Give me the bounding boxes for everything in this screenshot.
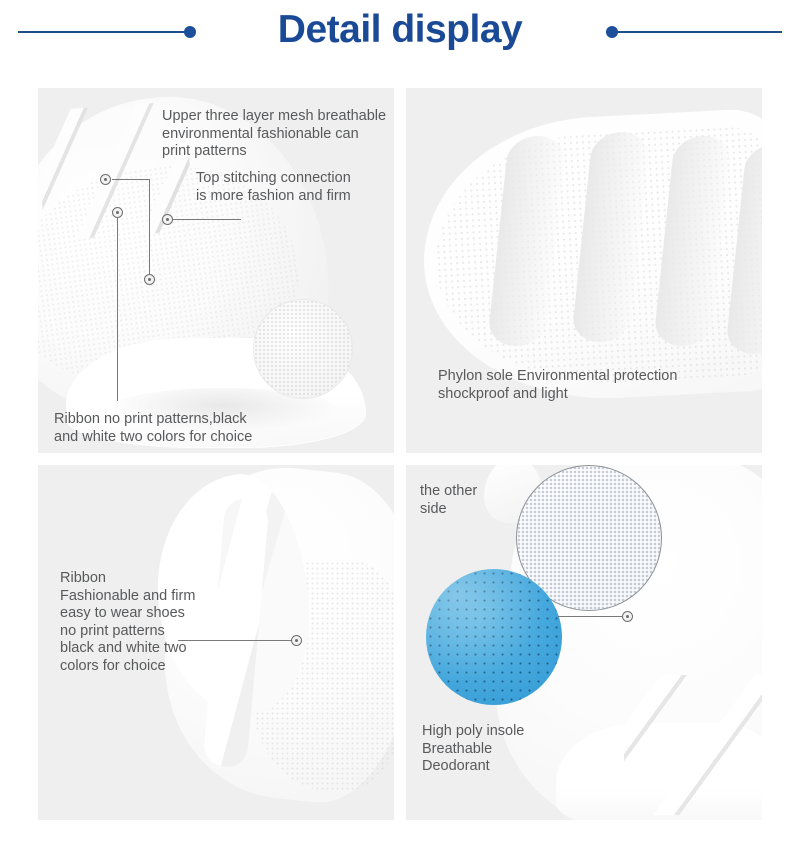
tread-chevron-1 <box>487 136 567 346</box>
note-heel-ribbon: Ribbon Fashionable and firm easy to wear… <box>60 570 235 675</box>
callout-marker-upper-2[interactable] <box>144 274 155 285</box>
ribbon-heel-panel: Ribbon Fashionable and firm easy to wear… <box>38 465 394 820</box>
stitching-zoom-circle <box>254 300 352 398</box>
callout-marker-ribbon[interactable] <box>112 207 123 218</box>
leader-line-stitching <box>173 219 241 220</box>
page-title: Detail display <box>0 8 800 52</box>
heel-mesh-texture <box>250 561 394 791</box>
note-high-poly-insole: High poly insole Breathable Deodorant <box>422 723 612 776</box>
leader-line-upper-b <box>149 179 150 279</box>
phylon-sole-panel: Phylon sole Environmental protection sho… <box>406 88 762 453</box>
tread-chevron-2 <box>571 132 651 342</box>
right-decorative-rule <box>616 31 782 33</box>
note-top-stitching: Top stitching connection is more fashion… <box>196 170 391 205</box>
callout-marker-stitching[interactable] <box>162 214 173 225</box>
shoe-laces-image <box>624 675 762 815</box>
detail-display-page: Detail display Upper three layer mesh br <box>0 0 800 853</box>
callout-marker-heel-ribbon[interactable] <box>291 635 302 646</box>
tread-chevron-3 <box>653 136 733 346</box>
leader-line-upper-a <box>112 179 150 180</box>
detail-panel-grid: Upper three layer mesh breathable enviro… <box>38 88 762 820</box>
leader-line-ribbon <box>117 213 118 401</box>
leader-line-insole-main <box>558 616 626 617</box>
callout-marker-insole[interactable] <box>622 611 633 622</box>
page-header: Detail display <box>0 0 800 80</box>
note-ribbon-colors: Ribbon no print patterns,black and white… <box>54 411 314 446</box>
tread-chevron-4 <box>725 144 762 354</box>
upper-mesh-panel: Upper three layer mesh breathable enviro… <box>38 88 394 453</box>
insole-panel: the other side High poly insole Breathab… <box>406 465 762 820</box>
note-phylon-sole: Phylon sole Environmental protection sho… <box>438 368 750 403</box>
note-upper-mesh: Upper three layer mesh breathable enviro… <box>162 108 390 161</box>
insole-swatch-circle <box>426 569 562 705</box>
note-other-side: the other side <box>420 483 520 518</box>
callout-marker-upper-1[interactable] <box>100 174 111 185</box>
